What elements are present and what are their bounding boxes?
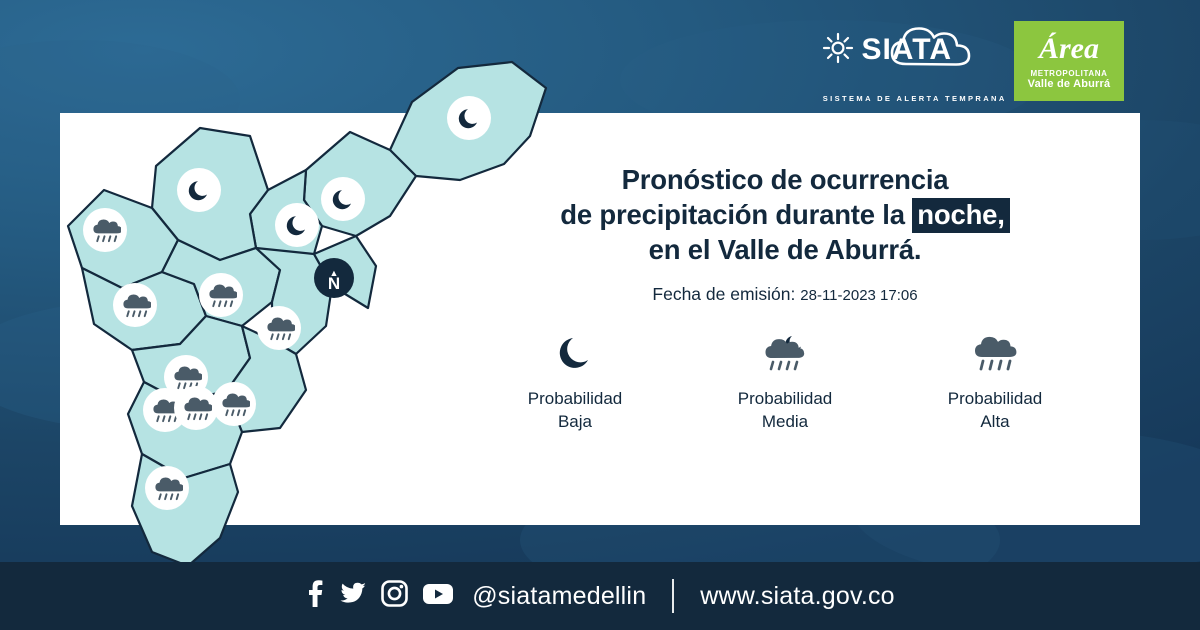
legend-baja-line2: Baja bbox=[558, 412, 592, 431]
website-url[interactable]: www.siata.gov.co bbox=[700, 582, 894, 611]
emission-date: Fecha de emisión: 28-11-2023 17:06 bbox=[470, 284, 1100, 305]
footer-bar: @siatamedellin www.siata.gov.co bbox=[0, 562, 1200, 630]
cloud-rain-icon bbox=[152, 473, 183, 504]
moon-icon bbox=[554, 330, 596, 376]
marker-san-pedro[interactable] bbox=[177, 168, 221, 212]
headline-line-3: en el Valle de Aburrá. bbox=[470, 232, 1100, 267]
area-line2: Valle de Aburrá bbox=[1028, 78, 1111, 90]
moon-icon bbox=[284, 212, 311, 239]
twitter-icon[interactable] bbox=[339, 580, 367, 613]
youtube-icon[interactable] bbox=[422, 582, 454, 611]
marker-medellin-norte[interactable] bbox=[199, 273, 243, 317]
emission-label: Fecha de emisión: bbox=[652, 284, 795, 304]
siata-tagline: SISTEMA DE ALERTA TEMPRANA bbox=[823, 94, 1007, 103]
headline-line-2: de precipitación durante la noche, bbox=[470, 197, 1100, 232]
marker-copacabana[interactable] bbox=[275, 203, 319, 247]
marker-bello[interactable] bbox=[113, 283, 157, 327]
legend-label-media: Probabilidad Media bbox=[738, 388, 833, 434]
cloud-rain-icon bbox=[264, 313, 295, 344]
instagram-icon[interactable] bbox=[381, 580, 408, 612]
sun-icon bbox=[821, 31, 855, 70]
legend-item-baja: Probabilidad Baja bbox=[480, 330, 670, 434]
siata-logo: SIATA SISTEMA DE ALERTA TEMPRANA bbox=[821, 20, 1008, 103]
legend-label-baja: Probabilidad Baja bbox=[528, 388, 623, 434]
headline-highlight: noche, bbox=[912, 198, 1009, 233]
headline-line-2-text: de precipitación durante la bbox=[560, 199, 905, 230]
compass-label: N bbox=[328, 276, 340, 291]
emission-value: 28-11-2023 17:06 bbox=[800, 287, 917, 304]
footer-divider bbox=[672, 579, 674, 613]
area-wordmark: Área bbox=[1039, 34, 1099, 64]
legend-item-media: Probabilidad Media bbox=[690, 330, 880, 434]
cloud-rain-icon bbox=[971, 330, 1019, 376]
marker-bello-norte[interactable] bbox=[83, 208, 127, 252]
area-line1: METROPOLITANA bbox=[1031, 69, 1108, 78]
moon-icon bbox=[186, 177, 213, 204]
moon-icon bbox=[330, 186, 357, 213]
cloud-rain-icon bbox=[181, 393, 212, 424]
legend-baja-line1: Probabilidad bbox=[528, 389, 623, 408]
cloud-rain-icon bbox=[219, 389, 250, 420]
legend-media-line2: Media bbox=[762, 412, 808, 431]
marker-barbosa[interactable] bbox=[447, 96, 491, 140]
logo-group: SIATA SISTEMA DE ALERTA TEMPRANA Área ME… bbox=[821, 16, 1124, 106]
cloud-rain-icon bbox=[90, 215, 121, 246]
social-handle[interactable]: @siatamedellin bbox=[472, 582, 646, 611]
probability-legend: Probabilidad Baja Probabilidad bbox=[470, 330, 1100, 434]
valle-de-aburra-map: ▲ N bbox=[60, 40, 580, 580]
marker-caldas[interactable] bbox=[145, 466, 189, 510]
compass-north-indicator: ▲ N bbox=[314, 258, 354, 298]
marker-envigado[interactable] bbox=[212, 382, 256, 426]
cloud-outline-icon bbox=[888, 20, 1008, 81]
area-metropolitana-logo: Área METROPOLITANA Valle de Aburrá bbox=[1014, 21, 1124, 101]
cloud-rain-icon bbox=[206, 280, 237, 311]
marker-medellin-centro[interactable] bbox=[257, 306, 301, 350]
cloud-moon-rain-icon bbox=[762, 330, 808, 376]
legend-media-line1: Probabilidad bbox=[738, 389, 833, 408]
legend-alta-line2: Alta bbox=[980, 412, 1009, 431]
legend-label-alta: Probabilidad Alta bbox=[948, 388, 1043, 434]
legend-item-alta: Probabilidad Alta bbox=[900, 330, 1090, 434]
headline-line-1: Pronóstico de ocurrencia bbox=[470, 162, 1100, 197]
cloud-rain-icon bbox=[120, 290, 151, 321]
legend-alta-line1: Probabilidad bbox=[948, 389, 1043, 408]
social-icons bbox=[305, 580, 454, 613]
page-title: Pronóstico de ocurrencia de precipitació… bbox=[470, 162, 1100, 268]
facebook-icon[interactable] bbox=[305, 580, 325, 613]
marker-girardota[interactable] bbox=[321, 177, 365, 221]
moon-icon bbox=[456, 105, 483, 132]
